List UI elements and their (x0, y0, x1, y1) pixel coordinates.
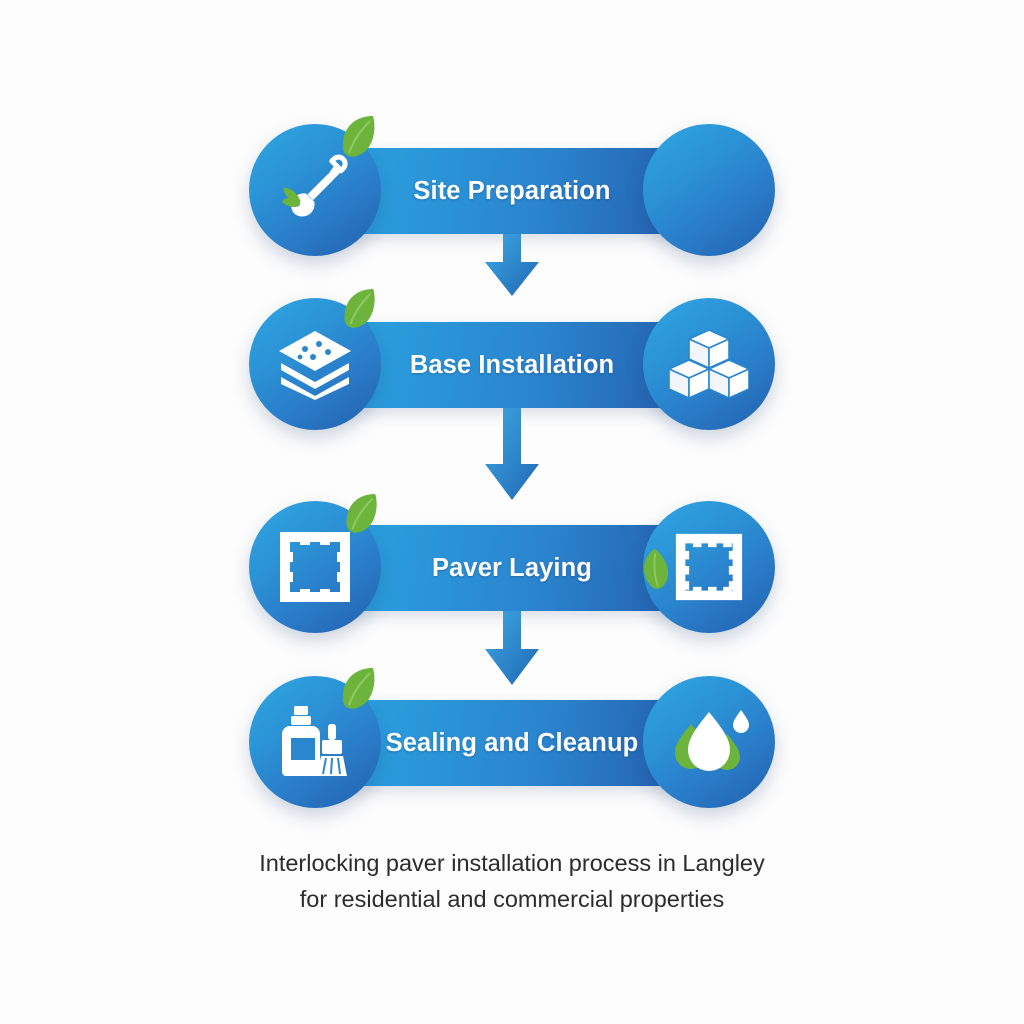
step-3-right-circle[interactable] (643, 501, 775, 633)
infographic-canvas: Site Preparation (0, 0, 1024, 1024)
connector-arrow-2 (482, 408, 542, 504)
step-1-left-circle[interactable] (249, 124, 381, 256)
step-2-left-circle[interactable] (249, 298, 381, 430)
process-step-4[interactable]: Sealing and Cleanup (243, 678, 781, 806)
step-3-left-circle[interactable] (249, 501, 381, 633)
water-droplets-icon (643, 676, 775, 808)
caption-line-1: Interlocking paver installation process … (162, 845, 862, 881)
stacked-blocks-icon (643, 298, 775, 430)
connector-arrow-1 (482, 234, 542, 302)
paver-square-icon (249, 501, 381, 633)
step-4-right-circle[interactable] (643, 676, 775, 808)
step-1-right-circle[interactable] (643, 124, 775, 256)
gravel-layers-icon (249, 298, 381, 430)
caption-line-2: for residential and commercial propertie… (162, 881, 862, 917)
step-2-right-circle[interactable] (643, 298, 775, 430)
caption: Interlocking paver installation process … (162, 845, 862, 917)
dashed-paver-square-icon (643, 501, 775, 633)
sealer-bottle-brush-icon (249, 676, 381, 808)
step-4-left-circle[interactable] (249, 676, 381, 808)
shovel-icon (249, 124, 381, 256)
empty-circle-icon (643, 124, 775, 256)
